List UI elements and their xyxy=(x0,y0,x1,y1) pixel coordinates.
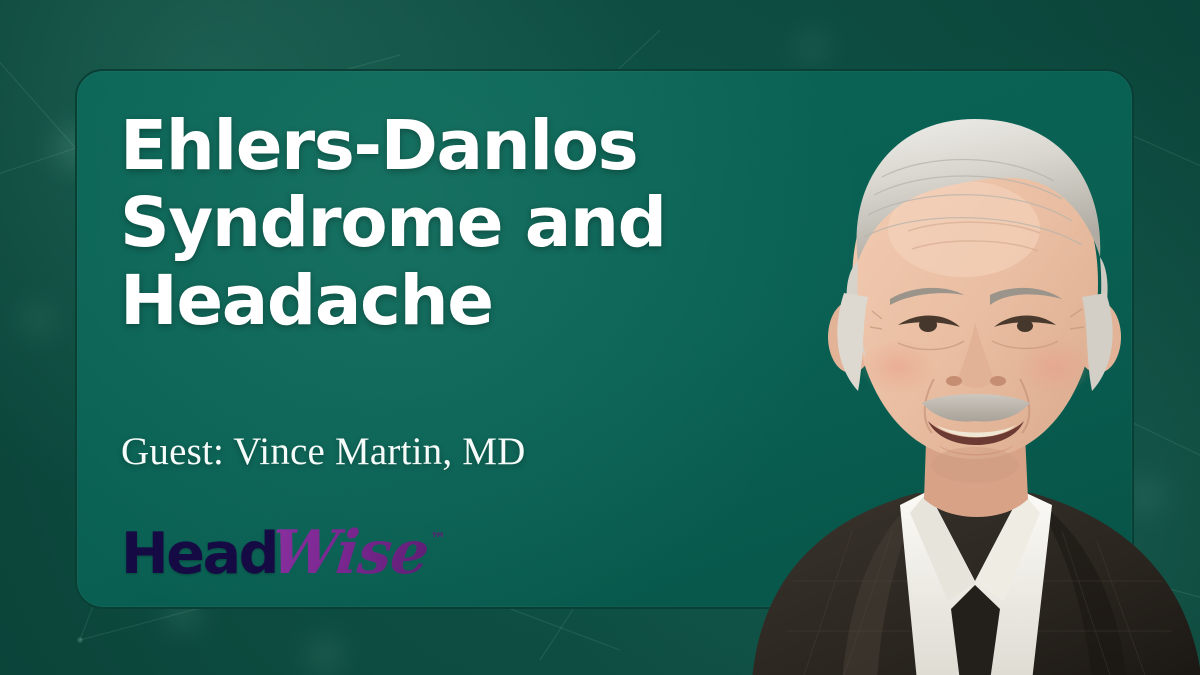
background-glow-dot xyxy=(18,300,58,340)
guest-portrait-photo: Portrait photo of a smiling older man wi… xyxy=(732,61,1200,675)
episode-title-line-3: Headache xyxy=(120,263,720,340)
logo-word-head: Head xyxy=(121,526,277,583)
episode-card: Ehlers-Danlos Syndrome and Headache Gues… xyxy=(75,69,1134,609)
episode-guest-line: Guest: Vince Martin, MD xyxy=(121,429,525,474)
episode-title-line-1: Ehlers-Danlos xyxy=(120,108,720,185)
background-glow-dot xyxy=(300,630,350,675)
guest-portrait-alt: Portrait photo of a smiling older man wi… xyxy=(732,61,733,62)
headwise-logo[interactable]: Head Wise ™ xyxy=(121,523,446,585)
episode-title-line-2: Syndrome and xyxy=(120,185,720,262)
trademark-icon: ™ xyxy=(430,529,446,548)
title-card-canvas: Ehlers-Danlos Syndrome and Headache Gues… xyxy=(0,0,1200,675)
background-glow-dot xyxy=(790,25,834,69)
logo-word-wise: Wise xyxy=(268,523,431,583)
episode-title: Ehlers-Danlos Syndrome and Headache xyxy=(120,108,720,340)
